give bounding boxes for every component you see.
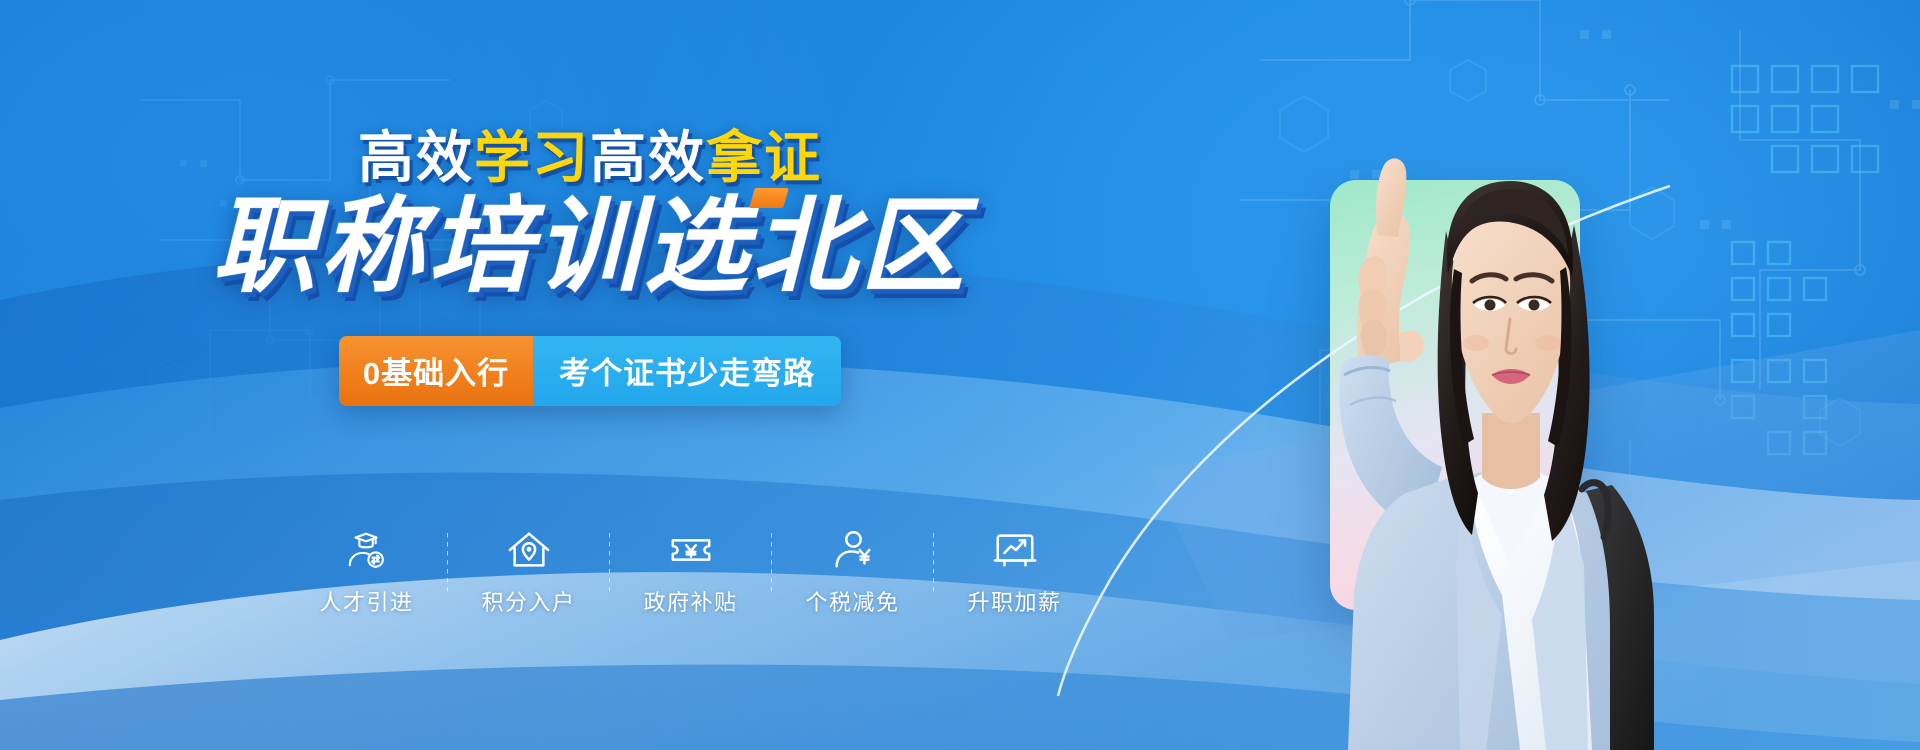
orange-accent-mark [749,188,789,208]
headline-main-wrap: 职称培训选北区 [212,192,968,302]
graduate-person-icon [344,527,390,573]
feature-label: 升职加薪 [967,585,1061,617]
badge-primary[interactable]: 0基础入行 [339,336,533,406]
feature-divider [609,533,610,595]
promo-banner: 高效学习高效拿证 职称培训选北区 0基础入行 考个证书少走弯路 [0,0,1920,750]
growth-chart-icon [992,527,1038,573]
model-photo [1210,95,1730,750]
feature-divider [771,533,772,595]
headline-main: 职称培训选北区 [212,192,968,302]
headline-top-seg-2: 学习 [474,126,590,189]
feature-list: 人才引进 积分入户 [300,527,1081,617]
feature-label: 政府补贴 [643,585,737,617]
house-pin-icon [506,527,552,573]
badge-secondary[interactable]: 考个证书少走弯路 [533,336,841,406]
feature-item-promotion[interactable]: 升职加薪 [948,527,1081,617]
feature-item-taxcut[interactable]: 个税减免 [786,527,919,617]
feature-item-subsidy[interactable]: 政府补贴 [624,527,757,617]
feature-label: 人才引进 [319,585,413,617]
badge-row: 0基础入行 考个证书少走弯路 [339,336,841,406]
headline-top-seg-4: 拿证 [706,126,822,189]
person-yuan-icon [830,527,876,573]
voucher-yuan-icon [668,527,714,573]
feature-divider [933,533,934,595]
headline-top: 高效学习高效拿证 [358,130,822,186]
feature-label: 个税减免 [805,585,899,617]
headline-block: 高效学习高效拿证 职称培训选北区 0基础入行 考个证书少走弯路 [0,130,1180,406]
headline-top-seg-3: 高效 [590,126,706,189]
feature-divider [447,533,448,595]
headline-top-seg-1: 高效 [358,126,474,189]
feature-label: 积分入户 [481,585,575,617]
feature-item-talent[interactable]: 人才引进 [300,527,433,617]
feature-item-residency[interactable]: 积分入户 [462,527,595,617]
